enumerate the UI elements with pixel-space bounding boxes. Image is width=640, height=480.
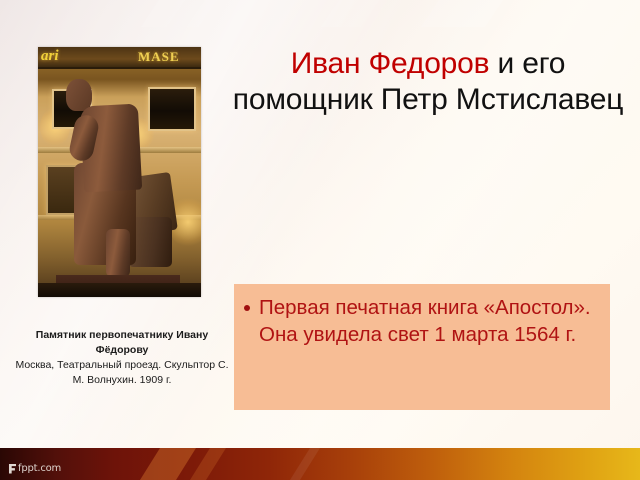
band-streak [290, 448, 320, 480]
content-box: Первая печатная книга «Апостол». Она уви… [234, 284, 610, 410]
band-streak [140, 448, 196, 480]
monument-photo: ari MASE [38, 47, 201, 297]
band-streak [141, 0, 185, 27]
bullet-list-item: Первая печатная книга «Апостол». Она уви… [244, 294, 596, 349]
statue-leg [106, 229, 130, 277]
photo-sign-right-text: MASE [138, 49, 180, 65]
band-streak [321, 0, 379, 27]
bottom-decorative-band: fppt.com [0, 448, 640, 480]
band-streak [421, 0, 503, 27]
photo-sign-left-text: ari [41, 48, 59, 65]
fppt-logo-icon [7, 464, 16, 474]
band-streak [190, 448, 226, 480]
watermark-text: fppt.com [18, 463, 61, 474]
caption-details: Москва, Театральный проезд. Скульптор С.… [14, 358, 230, 388]
slide-canvas: Иван Федоров и его помощник Петр Мстисла… [0, 0, 640, 480]
photo-ground [38, 283, 201, 297]
photo-inner: ari MASE [38, 47, 201, 297]
caption-title: Памятник первопечатнику Ивану Фёдорову [14, 328, 230, 358]
title-accent-text: Иван Федоров [291, 47, 490, 80]
watermark: fppt.com [7, 463, 61, 474]
top-decorative-band [0, 0, 640, 27]
slide-title: Иван Федоров и его помощник Петр Мстисла… [228, 46, 628, 117]
bronze-statue [66, 79, 174, 279]
photo-caption: Памятник первопечатнику Ивану Фёдорову М… [14, 328, 230, 388]
band-streak [187, 0, 217, 27]
bullet-item-text: Первая печатная книга «Апостол». Она уви… [259, 294, 596, 349]
bullet-dot-icon [244, 305, 250, 311]
